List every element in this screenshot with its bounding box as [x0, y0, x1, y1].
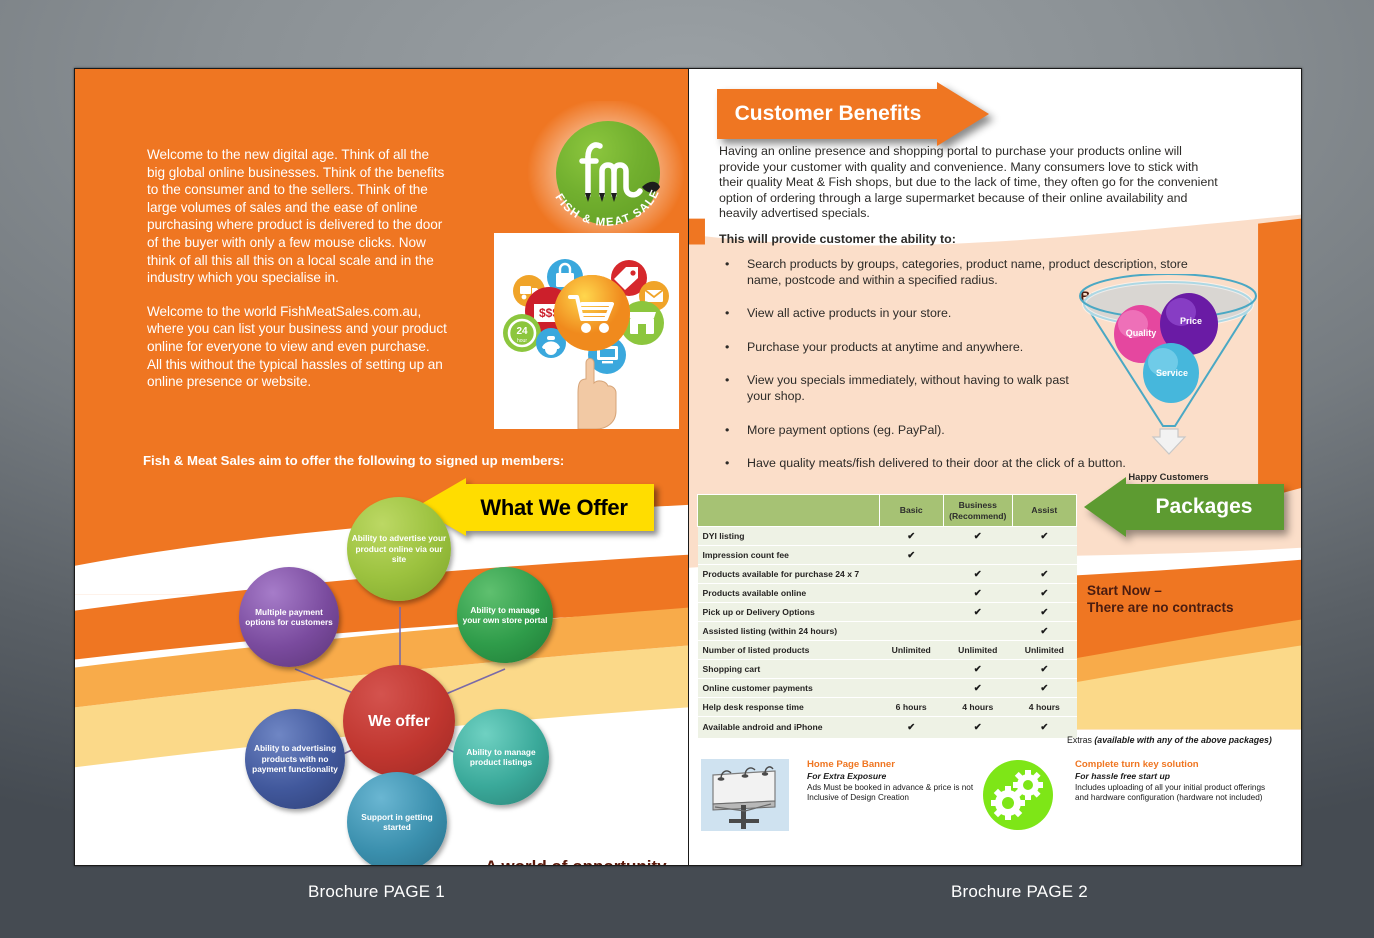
list-item: • View you specials immediately, without…	[717, 373, 1087, 404]
table-row: Shopping cart✔✔	[698, 660, 1077, 679]
cell-basic	[879, 603, 943, 622]
world-of-opportunity-text: A world of opportunity	[485, 857, 667, 865]
gears-icon	[982, 759, 1054, 831]
page1-aim-heading: Fish & Meat Sales aim to offer the follo…	[143, 453, 653, 468]
gears-image	[982, 759, 1054, 831]
svg-text:FISH & MEAT SALES: FISH & MEAT SALES	[530, 117, 662, 229]
cell-business	[943, 546, 1012, 565]
intro-paragraph-1: Welcome to the new digital age. Think of…	[147, 146, 447, 287]
table-row: Available android and iPhone✔✔✔	[698, 717, 1077, 739]
extra-subtitle: For Extra Exposure	[807, 771, 977, 781]
table-row: DYI listing✔✔✔	[698, 527, 1077, 546]
cell-assist: ✔	[1012, 584, 1076, 603]
start-now-text: Start Now – There are no contracts	[1087, 582, 1234, 616]
diagram-node-advertise: Ability to advertise your product online…	[347, 497, 451, 601]
diagram-center-label: We offer	[368, 713, 430, 730]
table-row: Pick up or Delivery Options✔✔	[698, 603, 1077, 622]
diagram-node-label: Multiple payment options for customers	[243, 607, 335, 628]
row-label: Shopping cart	[698, 660, 880, 679]
customer-benefits-intro: Having an online presence and shopping p…	[719, 144, 1219, 222]
table-header-assist: Assist	[1012, 495, 1076, 527]
cell-business: ✔	[943, 717, 1012, 739]
table-header-business-line1: Business	[959, 500, 997, 510]
cell-assist: ✔	[1012, 527, 1076, 546]
logo-tagline: FISH & MEAT SALES	[530, 117, 682, 232]
list-item-text: More payment options (eg. PayPal).	[747, 423, 945, 439]
billboard-image	[701, 759, 789, 831]
row-label: Products available for purchase 24 x 7	[698, 565, 880, 584]
caption-page-2: Brochure PAGE 2	[951, 882, 1088, 902]
svg-text:Service: Service	[1156, 368, 1188, 378]
cell-business: ✔	[943, 603, 1012, 622]
arrow-head-right-icon	[937, 82, 989, 146]
cell-basic: ✔	[879, 546, 943, 565]
packages-arrow[interactable]: Packages	[1084, 484, 1284, 530]
bullet-icon: •	[717, 257, 747, 288]
table-row: Online customer payments✔✔	[698, 679, 1077, 698]
list-item-text: Purchase your products at anytime and an…	[747, 340, 1023, 356]
extras-label-prefix: Extras	[1067, 735, 1094, 745]
row-label: Products available online	[698, 584, 880, 603]
extras-row: Home Page Banner For Extra Exposure Ads …	[697, 757, 1297, 842]
list-item-text: View all active products in your store.	[747, 306, 951, 322]
billboard-icon	[701, 759, 789, 831]
row-label: DYI listing	[698, 527, 880, 546]
extra-body: Ads Must be booked in advance & price is…	[807, 783, 977, 804]
extra-body: Includes uploading of all your initial p…	[1075, 783, 1275, 804]
bullet-icon: •	[717, 373, 747, 404]
row-label: Available android and iPhone	[698, 717, 880, 739]
funnel-icon: Quality Price Service	[1071, 274, 1266, 474]
customer-benefits-subheading: This will provide customer the ability t…	[719, 232, 956, 246]
start-now-line1: Start Now –	[1087, 582, 1234, 599]
we-offer-diagram: We offer Ability to advertise your produ…	[175, 487, 595, 857]
cell-basic	[879, 565, 943, 584]
cell-business: ✔	[943, 679, 1012, 698]
svg-text:24: 24	[516, 326, 528, 337]
row-label: Impression count fee	[698, 546, 880, 565]
diagram-node-store-portal: Ability to manage your own store portal	[457, 567, 553, 663]
extras-label: Extras (available with any of the above …	[1067, 735, 1272, 745]
bullet-icon: •	[717, 340, 747, 356]
cell-basic: ✔	[879, 527, 943, 546]
diagram-node-label: Ability to advertise your product online…	[351, 533, 447, 565]
ecommerce-icons-image: $$$ 24 hour	[494, 233, 679, 429]
row-label: Help desk response time	[698, 698, 880, 717]
diagram-node-product-listings: Ability to manage product listings	[453, 709, 549, 805]
table-row: Assisted listing (within 24 hours)✔	[698, 622, 1077, 641]
cell-assist	[1012, 546, 1076, 565]
cell-business: ✔	[943, 660, 1012, 679]
table-row: Products available online✔✔	[698, 584, 1077, 603]
cell-basic	[879, 622, 943, 641]
table-header-blank	[698, 495, 880, 527]
packages-label: Packages	[1124, 484, 1284, 530]
diagram-node-label: Support in getting started	[351, 812, 443, 833]
list-item-text: Have quality meats/fish delivered to the…	[747, 456, 1126, 472]
cell-assist: ✔	[1012, 603, 1076, 622]
cell-assist: ✔	[1012, 565, 1076, 584]
cell-business: 4 hours	[943, 698, 1012, 717]
row-label: Assisted listing (within 24 hours)	[698, 622, 880, 641]
table-row: Products available for purchase 24 x 7✔✔	[698, 565, 1077, 584]
list-item-text: View you specials immediately, without h…	[747, 373, 1087, 404]
extras-label-italic: (available with any of the above package…	[1094, 735, 1271, 745]
cell-business: Unlimited	[943, 641, 1012, 660]
customer-benefits-label: Customer Benefits	[717, 89, 939, 139]
cell-business: ✔	[943, 584, 1012, 603]
row-label: Online customer payments	[698, 679, 880, 698]
table-header-business-line2: (Recommend)	[949, 511, 1006, 521]
packages-table: Basic Business (Recommend) Assist DYI li…	[697, 494, 1077, 739]
diagram-node-label: Ability to manage your own store portal	[461, 605, 549, 626]
cell-business: ✔	[943, 527, 1012, 546]
extra-home-page-banner: Home Page Banner For Extra Exposure Ads …	[807, 759, 977, 804]
diagram-node-support: Support in getting started	[347, 772, 447, 865]
cell-assist: ✔	[1012, 660, 1076, 679]
brochure-container: Welcome to the new digital age. Think of…	[74, 68, 1302, 866]
diagram-node-center: We offer	[343, 665, 455, 777]
extra-title: Home Page Banner	[807, 759, 977, 770]
extra-title: Complete turn key solution	[1075, 759, 1275, 770]
customer-benefits-arrow[interactable]: Customer Benefits	[717, 89, 989, 139]
table-row: Help desk response time6 hours4 hours4 h…	[698, 698, 1077, 717]
diagram-node-label: Ability to advertising products with no …	[249, 743, 341, 775]
cell-basic	[879, 660, 943, 679]
cell-basic: ✔	[879, 717, 943, 739]
svg-text:Price: Price	[1180, 316, 1202, 326]
cell-business: ✔	[943, 565, 1012, 584]
brochure-page-2: Customer Benefits Having an online prese…	[689, 69, 1301, 865]
diagram-node-payment-options: Multiple payment options for customers	[239, 567, 339, 667]
bullet-icon: •	[717, 456, 747, 472]
table-header-row: Basic Business (Recommend) Assist	[698, 495, 1077, 527]
table-header-basic: Basic	[879, 495, 943, 527]
diagram-node-label: Ability to manage product listings	[457, 747, 545, 768]
svg-text:hour: hour	[517, 338, 527, 344]
cell-basic	[879, 584, 943, 603]
funnel-diagram: Quality Price Service	[1071, 274, 1266, 474]
company-logo: FISH & MEAT SALES	[530, 117, 682, 232]
page1-intro-text: Welcome to the new digital age. Think of…	[147, 146, 447, 407]
extra-turn-key-solution: Complete turn key solution For hassle fr…	[1075, 759, 1275, 804]
extra-subtitle: For hassle free start up	[1075, 771, 1275, 781]
table-row: Impression count fee✔	[698, 546, 1077, 565]
bullet-icon: •	[717, 306, 747, 322]
row-label: Pick up or Delivery Options	[698, 603, 880, 622]
diagram-node-no-payment: Ability to advertising products with no …	[245, 709, 345, 809]
start-now-line2: There are no contracts	[1087, 599, 1234, 616]
cell-basic: Unlimited	[879, 641, 943, 660]
intro-paragraph-2: Welcome to the world FishMeatSales.com.a…	[147, 303, 447, 391]
cell-assist: ✔	[1012, 679, 1076, 698]
svg-text:Quality: Quality	[1126, 328, 1157, 338]
caption-page-1: Brochure PAGE 1	[308, 882, 445, 902]
arrow-head-left-icon	[1084, 477, 1126, 537]
shopping-icons-illustration: $$$ 24 hour	[494, 233, 679, 429]
table-header-business: Business (Recommend)	[943, 495, 1012, 527]
cell-assist: Unlimited	[1012, 641, 1076, 660]
cell-basic: 6 hours	[879, 698, 943, 717]
table-row: Number of listed productsUnlimitedUnlimi…	[698, 641, 1077, 660]
cell-business	[943, 622, 1012, 641]
brochure-page-1: Welcome to the new digital age. Think of…	[75, 69, 689, 865]
row-label: Number of listed products	[698, 641, 880, 660]
cell-assist: ✔	[1012, 622, 1076, 641]
cell-assist: 4 hours	[1012, 698, 1076, 717]
cell-basic	[879, 679, 943, 698]
bullet-icon: •	[717, 423, 747, 439]
